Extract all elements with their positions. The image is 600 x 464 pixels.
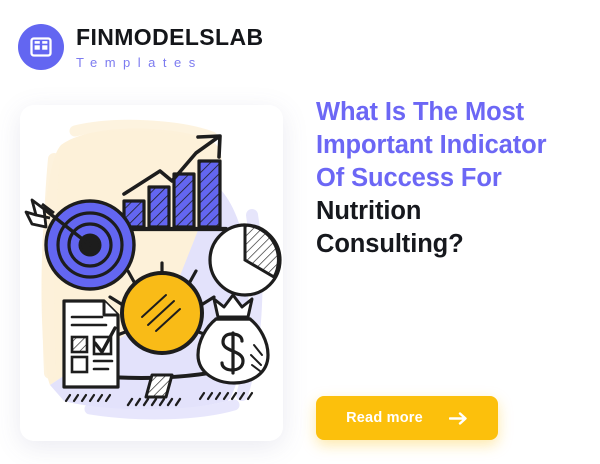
read-more-label: Read more [346, 410, 423, 426]
arrow-right-icon [449, 412, 468, 425]
brand-logo[interactable]: FINMODELSLAB Templates [18, 24, 264, 70]
grid-dashboard-icon [18, 24, 64, 70]
read-more-button[interactable]: Read more [316, 396, 498, 440]
headline-lead-line-2: Important Indicator [316, 129, 586, 162]
brand-subtitle: Templates [76, 56, 264, 69]
pie-chart-icon [210, 225, 280, 295]
promo-banner: FINMODELSLAB Templates [0, 0, 600, 464]
headline-topic-line-2: Consulting? [316, 228, 586, 261]
business-success-illustration [20, 105, 283, 441]
page-title: What Is The Most Important Indicator Of … [316, 96, 586, 260]
brand-name: FINMODELSLAB [76, 26, 264, 49]
checklist-document-icon [64, 301, 118, 401]
brand-text: FINMODELSLAB Templates [76, 26, 264, 69]
headline-topic-line-1: Nutrition [316, 195, 586, 228]
headline-lead-line-1: What Is The Most [316, 96, 586, 129]
headline-lead-line-3: Of Success For [316, 162, 586, 195]
gold-coin-icon [122, 273, 202, 353]
